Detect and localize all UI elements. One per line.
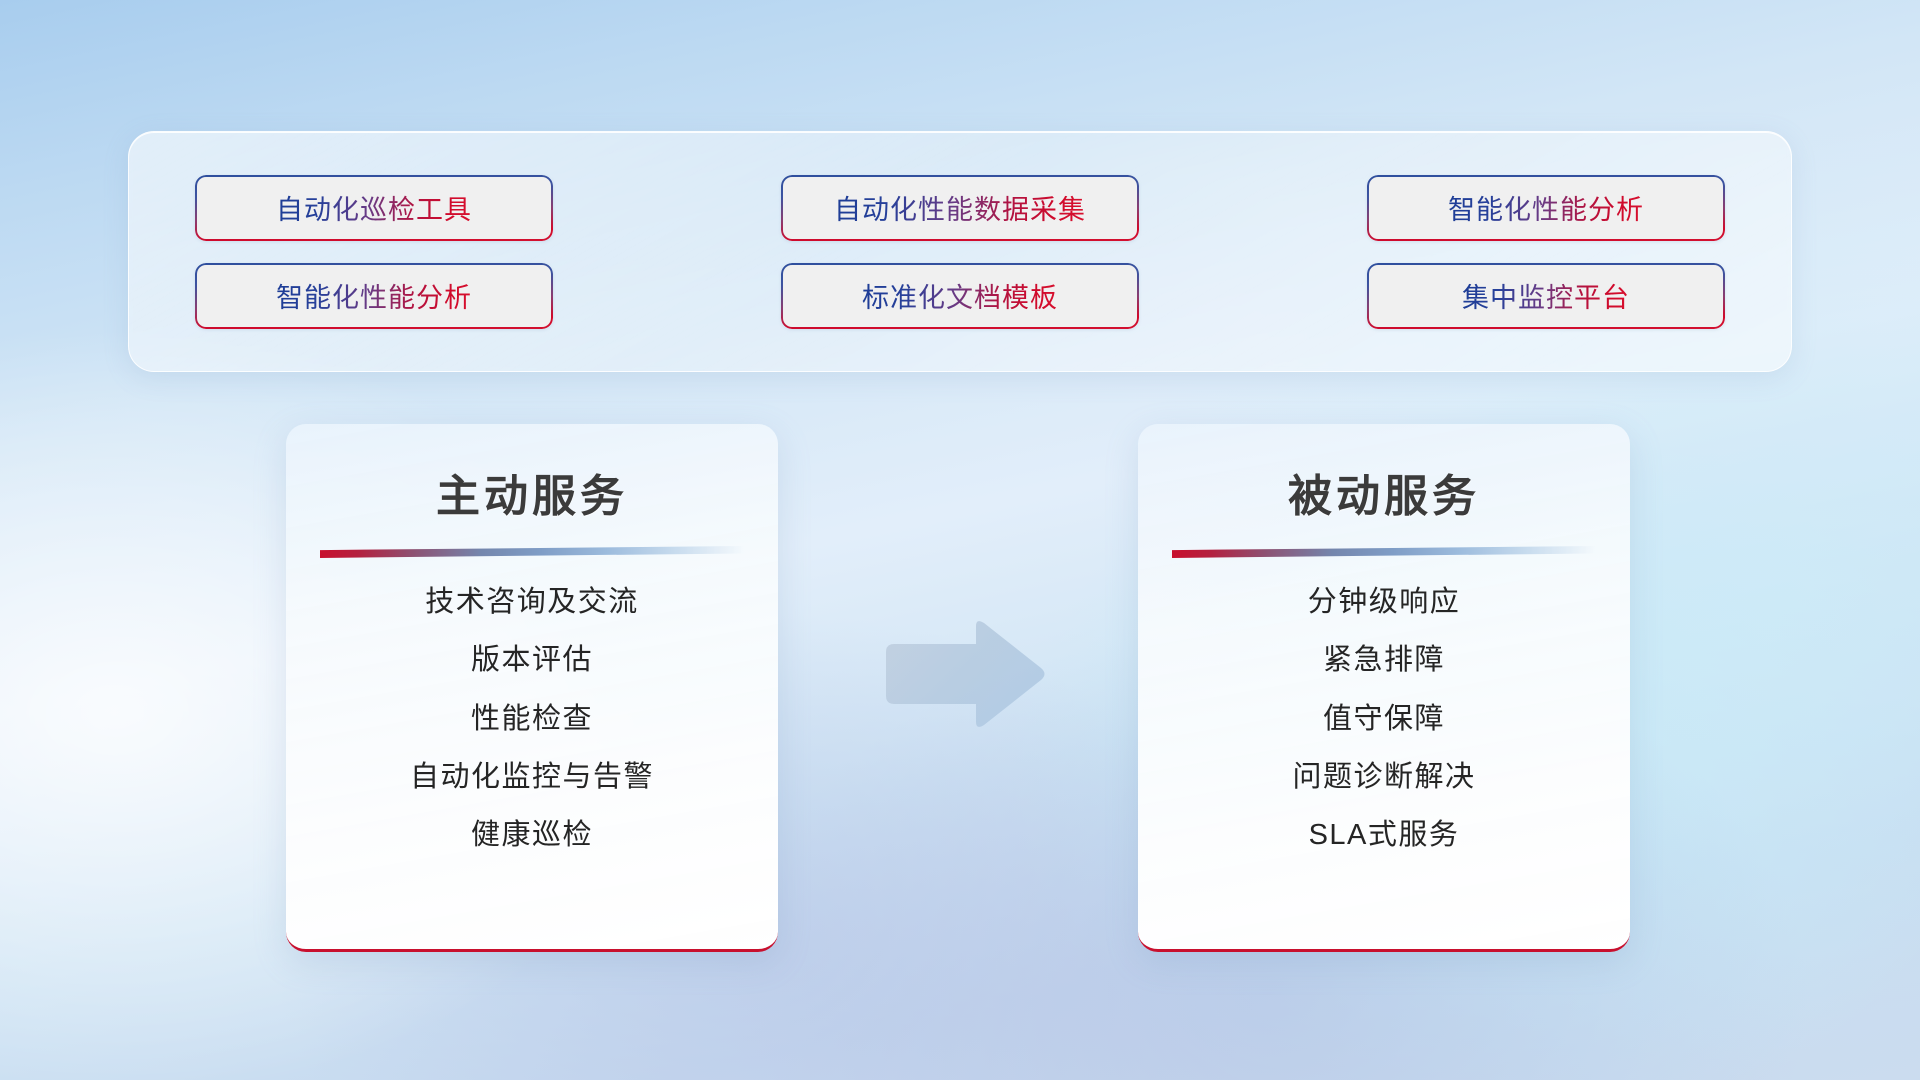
capability-chip[interactable]: 集中监控平台 (1367, 263, 1725, 329)
capability-chip-label: 智能化性能分析 (276, 276, 472, 315)
passive-service-list: 分钟级响应 紧急排障 值守保障 问题诊断解决 SLA式服务 (1138, 584, 1630, 853)
passive-service-title: 被动服务 (1138, 460, 1630, 524)
title-divider-active (320, 546, 744, 558)
list-item: 问题诊断解决 (1292, 759, 1475, 795)
capabilities-row-1: 自动化巡检工具 自动化性能数据采集 智能化性能分析 (195, 175, 1725, 241)
capability-chip[interactable]: 智能化性能分析 (1367, 175, 1725, 241)
capability-chip-label: 自动化性能数据采集 (834, 188, 1086, 227)
arrow-right-icon (880, 618, 1048, 730)
list-item: 分钟级响应 (1308, 584, 1461, 620)
passive-service-card[interactable]: 被动服务 分钟级响应 紧急排障 值守保障 问题诊断解决 SLA式服务 (1138, 424, 1630, 952)
list-item: 性能检查 (471, 701, 593, 737)
capability-chip-label: 自动化巡检工具 (276, 188, 472, 227)
capability-chip[interactable]: 自动化性能数据采集 (781, 175, 1139, 241)
capability-chip-label: 集中监控平台 (1462, 276, 1630, 315)
list-item: 健康巡检 (471, 817, 593, 853)
capability-chip-label: 标准化文档模板 (862, 276, 1058, 315)
active-service-card[interactable]: 主动服务 技术咨询及交流 版本评估 性能检查 自动化监控与告警 健康巡检 (286, 424, 778, 952)
capabilities-panel: 自动化巡检工具 自动化性能数据采集 智能化性能分析 智能化性能分析 标准化文档模… (128, 131, 1792, 372)
list-item: SLA式服务 (1309, 817, 1460, 853)
list-item: 技术咨询及交流 (425, 584, 639, 620)
list-item: 版本评估 (471, 642, 593, 678)
active-service-list: 技术咨询及交流 版本评估 性能检查 自动化监控与告警 健康巡检 (286, 584, 778, 853)
capability-chip-label: 智能化性能分析 (1448, 188, 1644, 227)
active-service-title: 主动服务 (286, 460, 778, 524)
capability-chip[interactable]: 标准化文档模板 (781, 263, 1139, 329)
diagram-canvas: 自动化巡检工具 自动化性能数据采集 智能化性能分析 智能化性能分析 标准化文档模… (0, 0, 1920, 1080)
title-divider-passive (1172, 546, 1596, 558)
list-item: 值守保障 (1323, 701, 1445, 737)
capability-chip[interactable]: 自动化巡检工具 (195, 175, 553, 241)
list-item: 紧急排障 (1323, 642, 1445, 678)
capabilities-row-2: 智能化性能分析 标准化文档模板 集中监控平台 (195, 263, 1725, 329)
capability-chip[interactable]: 智能化性能分析 (195, 263, 553, 329)
list-item: 自动化监控与告警 (410, 759, 654, 795)
